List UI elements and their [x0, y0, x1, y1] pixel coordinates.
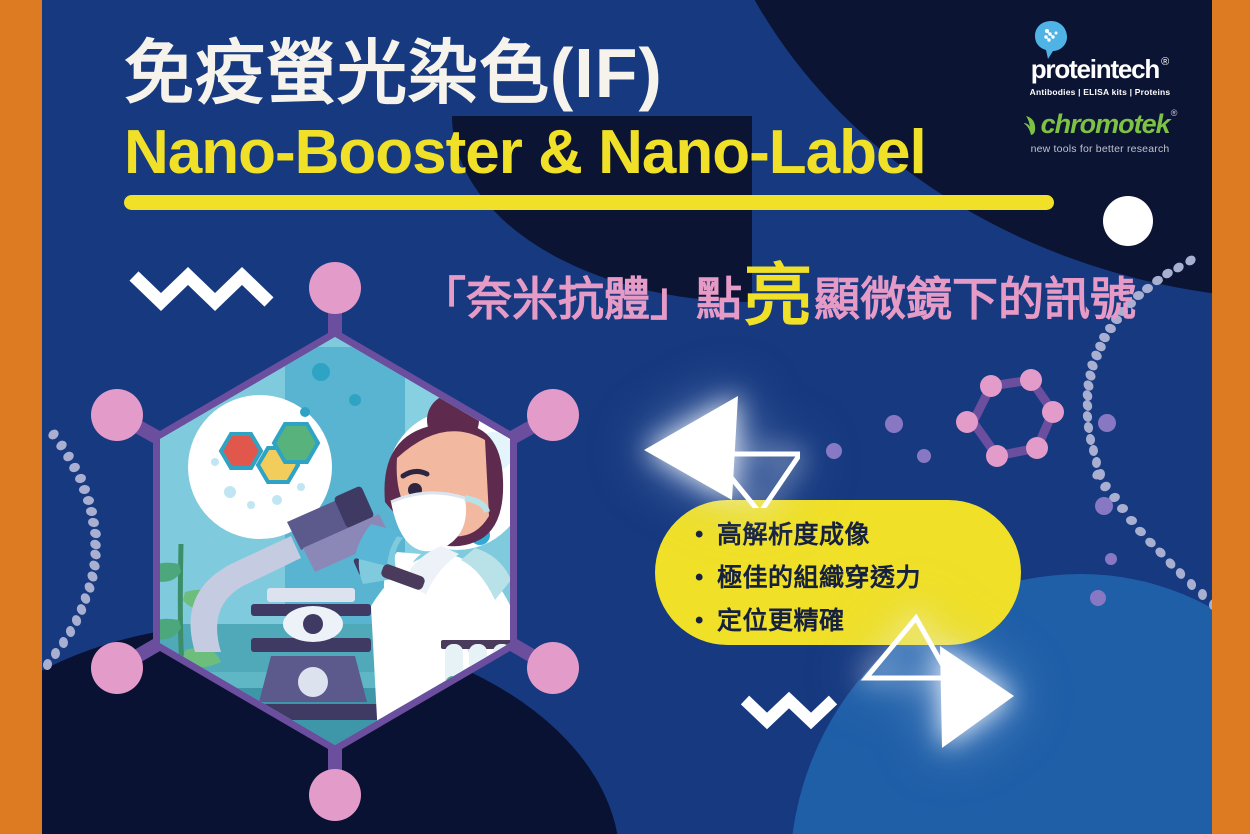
title-block: 免疫螢光染色(IF) Nano-Booster & Nano-Label — [124, 34, 1064, 210]
chromotek-wordmark: chromo tek ® — [1010, 111, 1190, 138]
white-circle-dot — [1103, 196, 1153, 246]
page-title-chinese: 免疫螢光染色(IF) — [124, 34, 1064, 112]
zigzag-icon-left — [128, 262, 276, 314]
proteintech-name: proteintech — [1031, 56, 1159, 82]
promotional-banner: 免疫螢光染色(IF) Nano-Booster & Nano-Label 「奈米… — [0, 0, 1250, 834]
proteintech-tagline: Antibodies | ELISA kits | Proteins — [1010, 87, 1190, 97]
right-orange-border — [1212, 0, 1250, 834]
proteintech-wordmark: proteintech ® — [1010, 56, 1190, 82]
page-title-english: Nano-Booster & Nano-Label — [124, 120, 1064, 185]
logo-block: proteintech ® Antibodies | ELISA kits | … — [1010, 20, 1190, 155]
subtitle: 「奈米抗體」點 亮 顯微鏡下的訊號 — [420, 262, 1136, 329]
chromotek-registered-mark: ® — [1171, 108, 1178, 118]
chromotek-name-accent: chromo — [1041, 111, 1134, 138]
hexagon-molecule-icon — [945, 360, 1075, 500]
list-item: 極佳的組織穿透力 — [717, 557, 1021, 600]
left-orange-border — [0, 0, 42, 834]
scientist-microscope-illustration — [55, 252, 615, 822]
subtitle-text-after: 顯微鏡下的訊號 — [814, 263, 1136, 329]
chromotek-name-grey: tek — [1134, 111, 1170, 138]
chromotek-leaf-icon — [1024, 114, 1040, 136]
arrow-left-icon — [640, 388, 800, 508]
subtitle-highlight-char: 亮 — [744, 266, 812, 327]
subtitle-text-before: 「奈米抗體」點 — [420, 263, 742, 329]
chromotek-tagline: new tools for better research — [1010, 143, 1190, 155]
title-underline-bar — [124, 195, 1054, 210]
zigzag-icon-bottom — [740, 688, 848, 732]
proteintech-registered-mark: ® — [1161, 57, 1169, 68]
arrow-right-icon — [854, 612, 1019, 752]
list-item: 高解析度成像 — [717, 514, 1021, 557]
